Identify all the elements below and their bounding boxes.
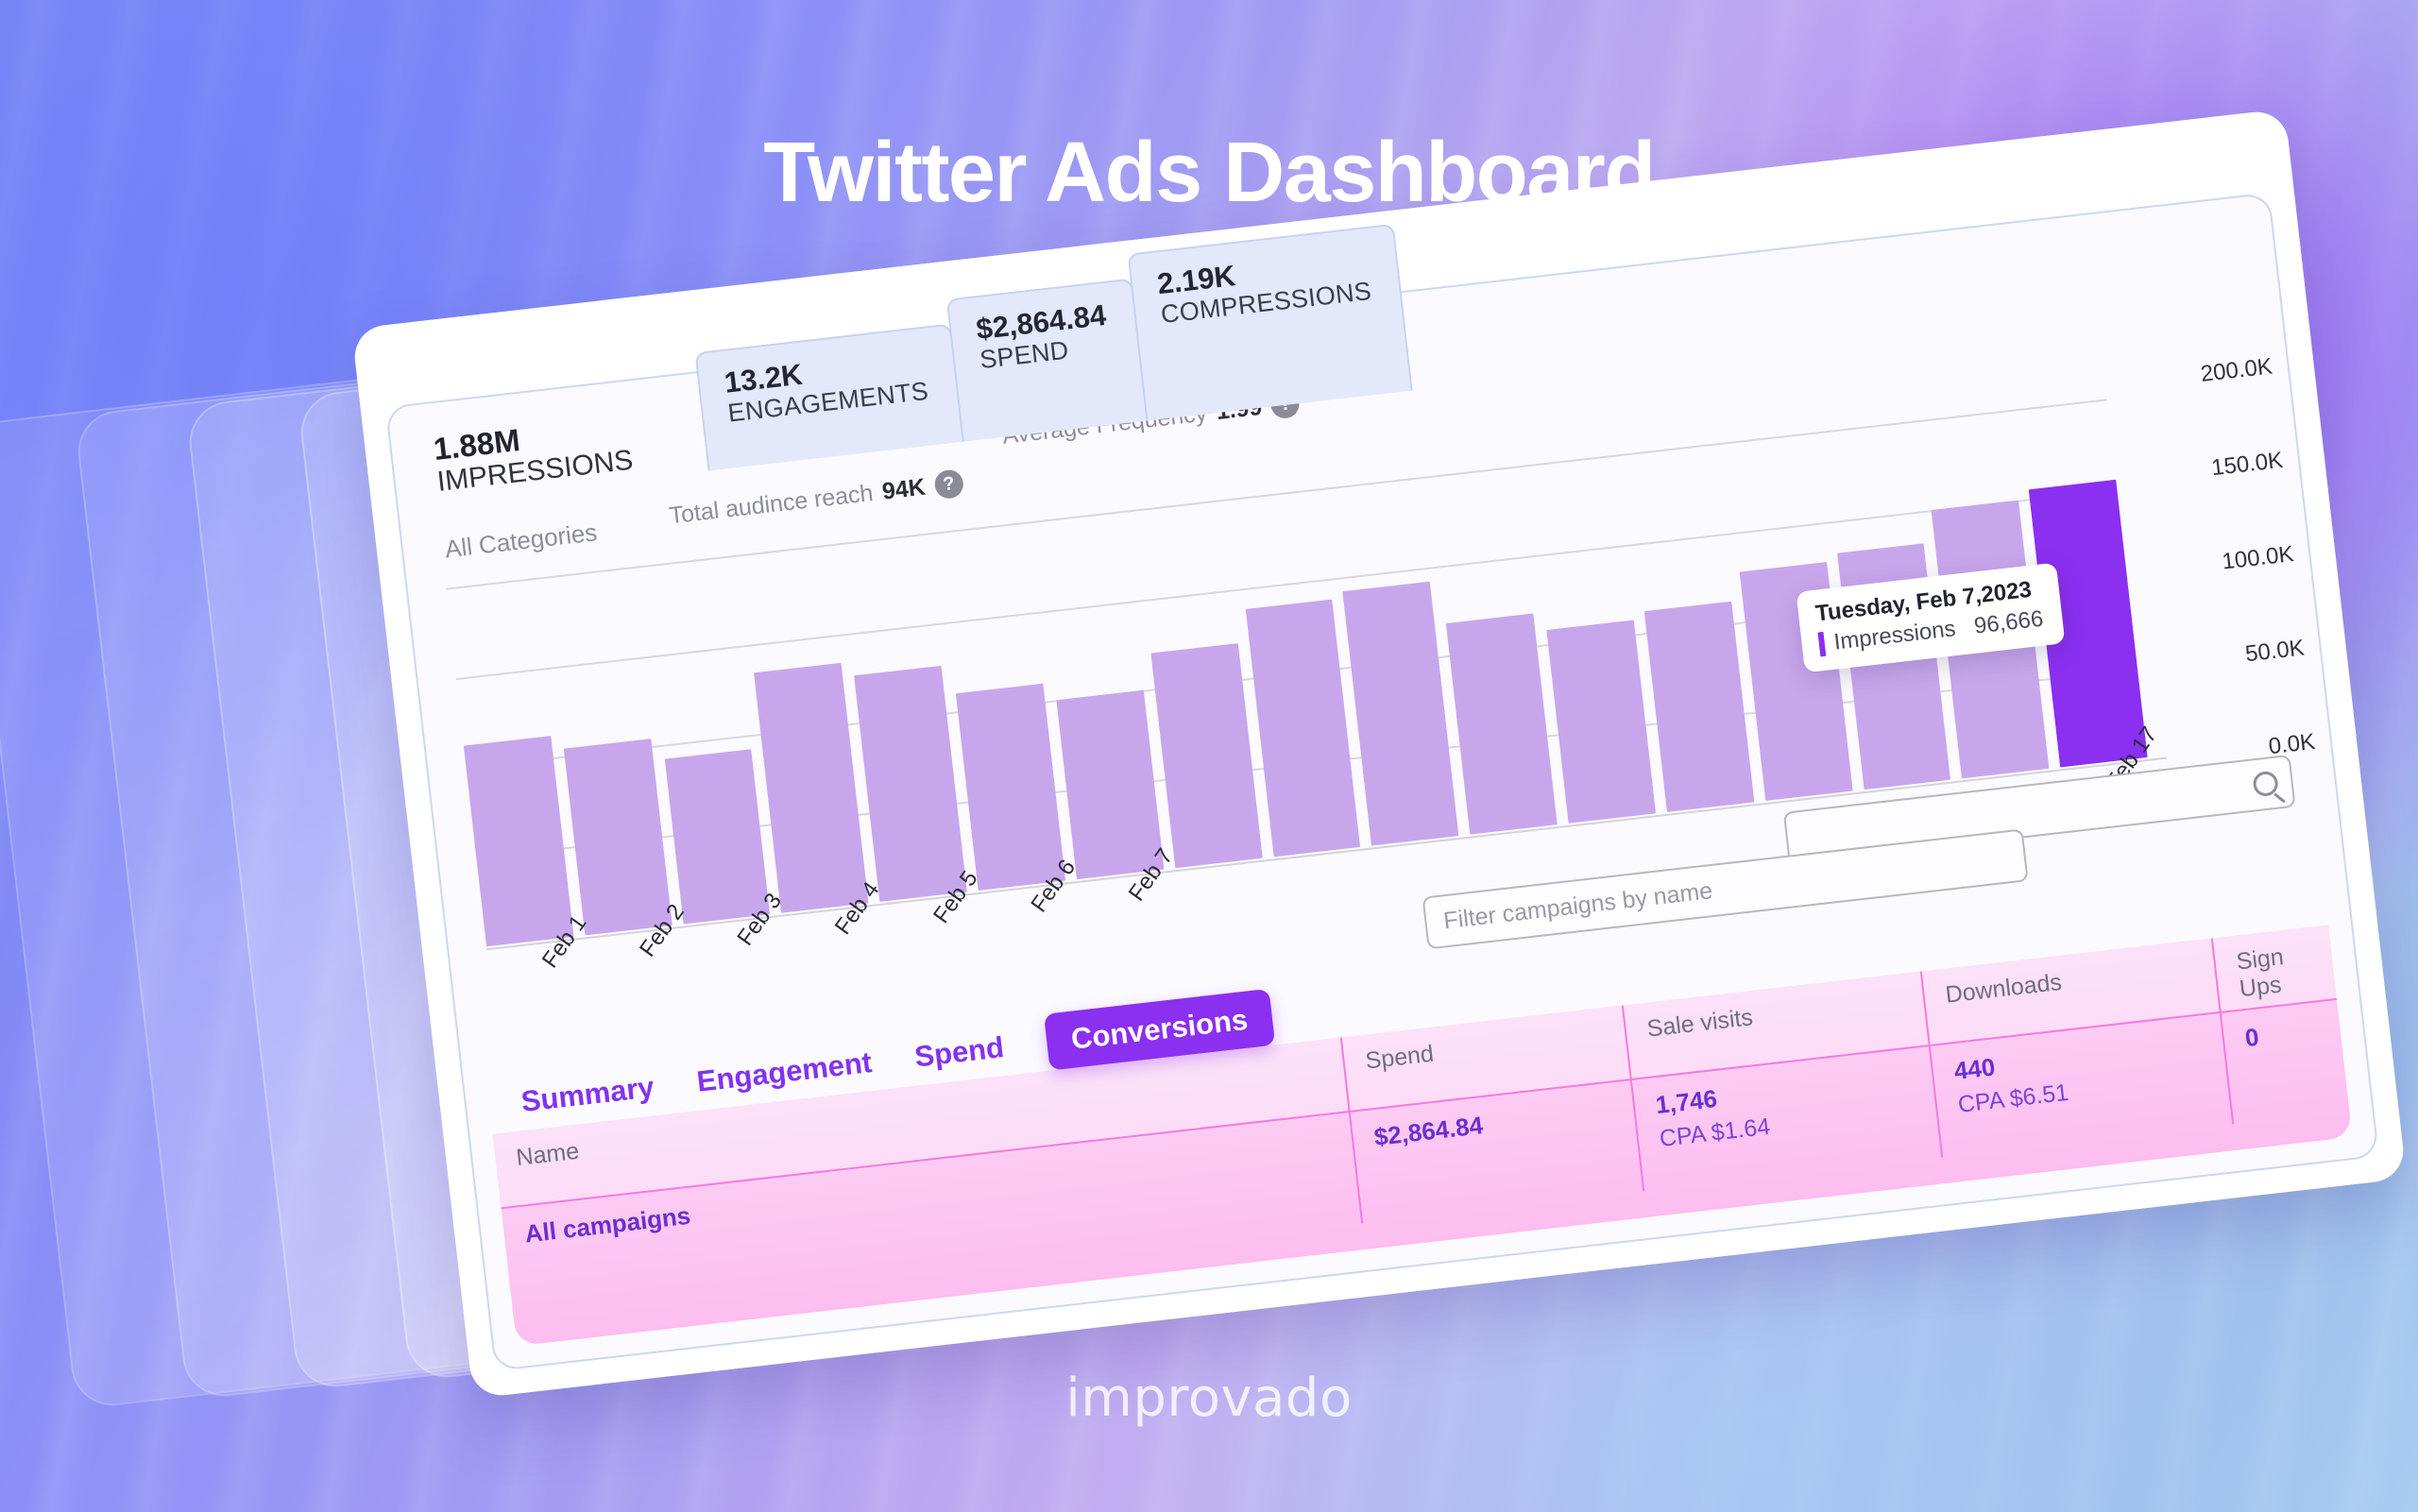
cell-sign-ups: 0 <box>2222 1000 2350 1124</box>
tab-spend[interactable]: Spend <box>913 1030 1006 1074</box>
page-background: Twitter Ads Dashboard 13.2K ENGAGEMENTS … <box>0 0 2418 1512</box>
tab-engagement[interactable]: Engagement <box>695 1045 874 1099</box>
chart-bar[interactable] <box>464 736 573 946</box>
chart-bar[interactable] <box>1343 581 1459 845</box>
chart-bar[interactable] <box>854 666 966 902</box>
kpi-card-compressions[interactable]: 2.19K COMPRESSIONS <box>1128 224 1413 421</box>
help-icon-reach[interactable]: ? <box>933 468 964 500</box>
chart-bar[interactable] <box>1150 643 1262 868</box>
tooltip-series-value: 96,666 <box>1973 606 2045 640</box>
page-title: Twitter Ads Dashboard <box>0 125 2418 222</box>
reach-label: Total audince reach <box>668 479 875 529</box>
chart-bar[interactable] <box>1245 600 1360 857</box>
chart-bar[interactable] <box>564 739 673 936</box>
chart-bar[interactable] <box>1446 613 1558 834</box>
dashboard-panel: 13.2K ENGAGEMENTS $2,864.84 SPEND 2.19K … <box>385 192 2379 1371</box>
dashboard-card: 13.2K ENGAGEMENTS $2,864.84 SPEND 2.19K … <box>351 109 2407 1399</box>
reach-value: 94K <box>880 473 927 505</box>
search-icon[interactable] <box>2252 771 2279 798</box>
chart-bar[interactable] <box>755 663 869 913</box>
y-axis-tick: 50.0K <box>2244 635 2306 668</box>
y-axis-tick: 150.0K <box>2210 448 2285 482</box>
chart-bar[interactable] <box>1644 602 1754 812</box>
chart-bar[interactable] <box>1546 620 1656 823</box>
kpi-card-impressions: 1.88M IMPRESSIONS <box>432 412 635 499</box>
kpi-card-spend[interactable]: $2,864.84 SPEND <box>946 278 1149 441</box>
column-header-sign-ups[interactable]: Sign Ups <box>2213 925 2337 1011</box>
y-axis-tick: 100.0K <box>2221 541 2295 575</box>
tooltip-series-swatch <box>1817 632 1826 657</box>
chart-bar[interactable] <box>956 684 1065 891</box>
all-categories-label[interactable]: All Categories <box>443 518 598 564</box>
chart-y-axis: 200.0K150.0K100.0K50.0K0.0K <box>2109 351 2330 747</box>
metric-total-audience-reach: Total audince reach 94K ? <box>668 468 964 530</box>
kpi-card-engagements[interactable]: 13.2K ENGAGEMENTS <box>694 323 964 470</box>
chart-bar[interactable] <box>1056 690 1164 879</box>
cell-sign-ups-value: 0 <box>2243 1015 2321 1053</box>
chart-bar[interactable] <box>664 749 770 924</box>
tab-summary[interactable]: Summary <box>519 1070 656 1119</box>
improvado-logo: improvado <box>0 1368 2418 1429</box>
